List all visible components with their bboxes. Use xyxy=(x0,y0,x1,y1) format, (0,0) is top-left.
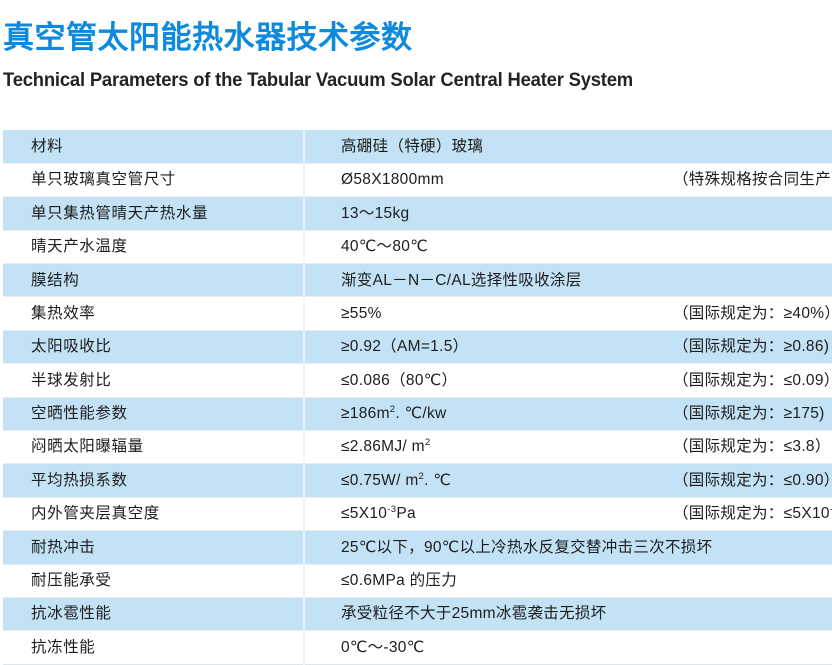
parameter-value: 13～15kg xyxy=(341,206,409,222)
parameter-note-cell: （国际规定为：≥40%） xyxy=(671,297,832,330)
parameter-label: 耐热冲击 xyxy=(31,540,95,556)
parameter-note-cell: （国际规定为：≤5X10-2Pa） xyxy=(671,497,832,530)
parameter-value-cell: 高硼硅（特硬）玻璃 xyxy=(304,130,671,163)
parameter-label: 闷晒太阳曝辐量 xyxy=(31,439,144,455)
parameter-label: 空晒性能参数 xyxy=(31,406,128,422)
table-row: 单只集热管晴天产热水量13～15kg xyxy=(3,197,832,230)
parameter-note-cell: （国际规定为：≥0.86) xyxy=(671,330,832,363)
parameter-value-cell: 渐变AL－N－C/AL选择性吸收涂层 xyxy=(304,264,671,297)
table-row: 平均热损系数≤0.75W/ m2. ℃（国际规定为：≤0.90） xyxy=(3,464,832,497)
parameter-value: ≥186m2. ℃/kw xyxy=(341,406,447,422)
table-row: 晴天产水温度40℃～80℃ xyxy=(3,230,832,263)
parameter-label: 内外管夹层真空度 xyxy=(31,506,160,522)
parameter-label: 集热效率 xyxy=(31,306,95,322)
parameter-value-cell: ≤0.086（80℃） xyxy=(304,364,671,397)
parameter-value: ≤0.086（80℃） xyxy=(341,373,457,389)
parameter-label: 半球发射比 xyxy=(31,373,112,389)
parameter-label-cell: 半球发射比 xyxy=(3,364,304,397)
table-row: 膜结构渐变AL－N－C/AL选择性吸收涂层 xyxy=(3,264,832,297)
parameter-label: 晴天产水温度 xyxy=(31,239,128,255)
parameter-label-cell: 单只玻璃真空管尺寸 xyxy=(3,163,304,196)
parameter-label-cell: 空晒性能参数 xyxy=(3,397,304,430)
parameter-value: ≤5X10-3Pa xyxy=(341,506,416,522)
parameter-label: 单只集热管晴天产热水量 xyxy=(31,206,208,222)
parameter-note: （特殊规格按合同生产） xyxy=(671,172,832,188)
parameter-value-cell: 0℃～-30℃ xyxy=(304,631,671,664)
parameter-label-cell: 平均热损系数 xyxy=(3,464,304,497)
parameter-note-cell: （国际规定为：≤3.8） xyxy=(671,431,832,464)
parameter-value: ≤2.86MJ/ m2 xyxy=(341,439,431,455)
parameter-value-cell: ≤0.6MPa 的压力 xyxy=(304,564,671,597)
parameter-note-cell xyxy=(671,230,832,263)
table-row: 抗冻性能0℃～-30℃ xyxy=(3,631,832,664)
parameter-label: 抗冰雹性能 xyxy=(31,606,112,622)
parameter-value: ≤0.75W/ m2. ℃ xyxy=(341,473,451,489)
parameter-value-cell: 13～15kg xyxy=(304,197,671,230)
parameter-value: 0℃～-30℃ xyxy=(341,640,424,656)
table-row: 耐压能承受≤0.6MPa 的压力 xyxy=(3,564,832,597)
table-row: 闷晒太阳曝辐量≤2.86MJ/ m2（国际规定为：≤3.8） xyxy=(3,431,832,464)
parameter-note-cell xyxy=(671,564,832,597)
parameter-value: 40℃～80℃ xyxy=(341,239,428,255)
parameter-note-cell xyxy=(671,597,832,630)
parameter-note-cell: （国际规定为：≤0.90） xyxy=(671,464,832,497)
parameter-label-cell: 闷晒太阳曝辐量 xyxy=(3,431,304,464)
spec-sheet-page: 真空管太阳能热水器技术参数 Technical Parameters of th… xyxy=(0,0,832,652)
parameter-label-cell: 晴天产水温度 xyxy=(3,230,304,263)
parameter-value: ≥0.92（AM=1.5） xyxy=(341,339,468,355)
parameter-label: 抗冻性能 xyxy=(31,640,95,656)
parameter-value: 渐变AL－N－C/AL选择性吸收涂层 xyxy=(341,273,582,289)
parameter-label: 材料 xyxy=(31,139,63,155)
parameter-note: （国际规定为：≤0.09） xyxy=(671,373,832,389)
parameter-label-cell: 抗冰雹性能 xyxy=(3,597,304,630)
parameter-note-cell: （国际规定为：≤0.09） xyxy=(671,364,832,397)
parameter-value-cell: ≥0.92（AM=1.5） xyxy=(304,330,671,363)
page-title-chinese: 真空管太阳能热水器技术参数 xyxy=(3,20,413,56)
table-body: 材料高硼硅（特硬）玻璃单只玻璃真空管尺寸Ø58X1800mm（特殊规格按合同生产… xyxy=(3,130,832,664)
table-row: 抗冰雹性能承受粒径不大于25mm冰雹袭击无损坏 xyxy=(3,597,832,630)
parameter-note-cell: （特殊规格按合同生产） xyxy=(671,163,832,196)
table-row: 耐热冲击25℃以下，90℃以上冷热水反复交替冲击三次不损坏 xyxy=(3,531,832,564)
parameter-label: 耐压能承受 xyxy=(31,573,112,589)
parameter-label: 膜结构 xyxy=(31,273,79,289)
table-row: 半球发射比≤0.086（80℃）（国际规定为：≤0.09） xyxy=(3,364,832,397)
parameter-label: 太阳吸收比 xyxy=(31,339,112,355)
parameter-value-cell: Ø58X1800mm xyxy=(304,163,671,196)
parameter-value-cell: ≤2.86MJ/ m2 xyxy=(304,431,671,464)
table-row: 空晒性能参数≥186m2. ℃/kw（国际规定为：≥175) xyxy=(3,397,832,430)
parameter-value-cell: 25℃以下，90℃以上冷热水反复交替冲击三次不损坏 xyxy=(304,531,671,564)
parameter-value-cell: ≥55% xyxy=(304,297,671,330)
parameter-label-cell: 膜结构 xyxy=(3,264,304,297)
table-row: 内外管夹层真空度≤5X10-3Pa（国际规定为：≤5X10-2Pa） xyxy=(3,497,832,530)
table-row: 太阳吸收比≥0.92（AM=1.5）（国际规定为：≥0.86) xyxy=(3,330,832,363)
parameter-label-cell: 材料 xyxy=(3,130,304,163)
technical-parameters-table: 材料高硼硅（特硬）玻璃单只玻璃真空管尺寸Ø58X1800mm（特殊规格按合同生产… xyxy=(3,130,832,665)
parameter-value-cell: 40℃～80℃ xyxy=(304,230,671,263)
parameter-label-cell: 单只集热管晴天产热水量 xyxy=(3,197,304,230)
parameter-label-cell: 内外管夹层真空度 xyxy=(3,497,304,530)
parameter-note-cell xyxy=(671,197,832,230)
parameter-value: ≥55% xyxy=(341,306,382,322)
table-row: 集热效率≥55%（国际规定为：≥40%） xyxy=(3,297,832,330)
table-row: 单只玻璃真空管尺寸Ø58X1800mm（特殊规格按合同生产） xyxy=(3,163,832,196)
parameter-value: 高硼硅（特硬）玻璃 xyxy=(341,139,483,155)
parameter-value: ≤0.6MPa 的压力 xyxy=(341,573,457,589)
parameter-value: Ø58X1800mm xyxy=(341,172,444,188)
parameter-value-cell: ≤5X10-3Pa xyxy=(304,497,671,530)
parameter-note: （国际规定为：≤3.8） xyxy=(671,439,831,455)
parameter-value-cell: 承受粒径不大于25mm冰雹袭击无损坏 xyxy=(304,597,671,630)
parameter-label-cell: 太阳吸收比 xyxy=(3,330,304,363)
parameter-value: 25℃以下，90℃以上冷热水反复交替冲击三次不损坏 xyxy=(341,540,712,556)
parameter-note: （国际规定为：≤5X10-2Pa） xyxy=(671,506,832,522)
parameter-note: （国际规定为：≥175) xyxy=(671,406,825,422)
parameter-value: 承受粒径不大于25mm冰雹袭击无损坏 xyxy=(341,606,606,622)
parameter-note-cell: （国际规定为：≥175) xyxy=(671,397,832,430)
table-row: 材料高硼硅（特硬）玻璃 xyxy=(3,130,832,163)
parameter-label: 平均热损系数 xyxy=(31,473,128,489)
parameter-note: （国际规定为：≥40%） xyxy=(671,306,832,322)
parameter-note: （国际规定为：≤0.90） xyxy=(671,473,832,489)
parameter-value-cell: ≥186m2. ℃/kw xyxy=(304,397,671,430)
parameter-label-cell: 抗冻性能 xyxy=(3,631,304,664)
parameter-label-cell: 耐热冲击 xyxy=(3,531,304,564)
parameter-label-cell: 集热效率 xyxy=(3,297,304,330)
parameter-label: 单只玻璃真空管尺寸 xyxy=(31,172,176,188)
parameter-note-cell xyxy=(671,130,832,163)
parameter-note-cell xyxy=(671,631,832,664)
parameter-value-cell: ≤0.75W/ m2. ℃ xyxy=(304,464,671,497)
parameter-note: （国际规定为：≥0.86) xyxy=(671,339,829,355)
page-subtitle-english: Technical Parameters of the Tabular Vacu… xyxy=(3,70,633,93)
parameter-label-cell: 耐压能承受 xyxy=(3,564,304,597)
parameter-note-cell xyxy=(671,264,832,297)
